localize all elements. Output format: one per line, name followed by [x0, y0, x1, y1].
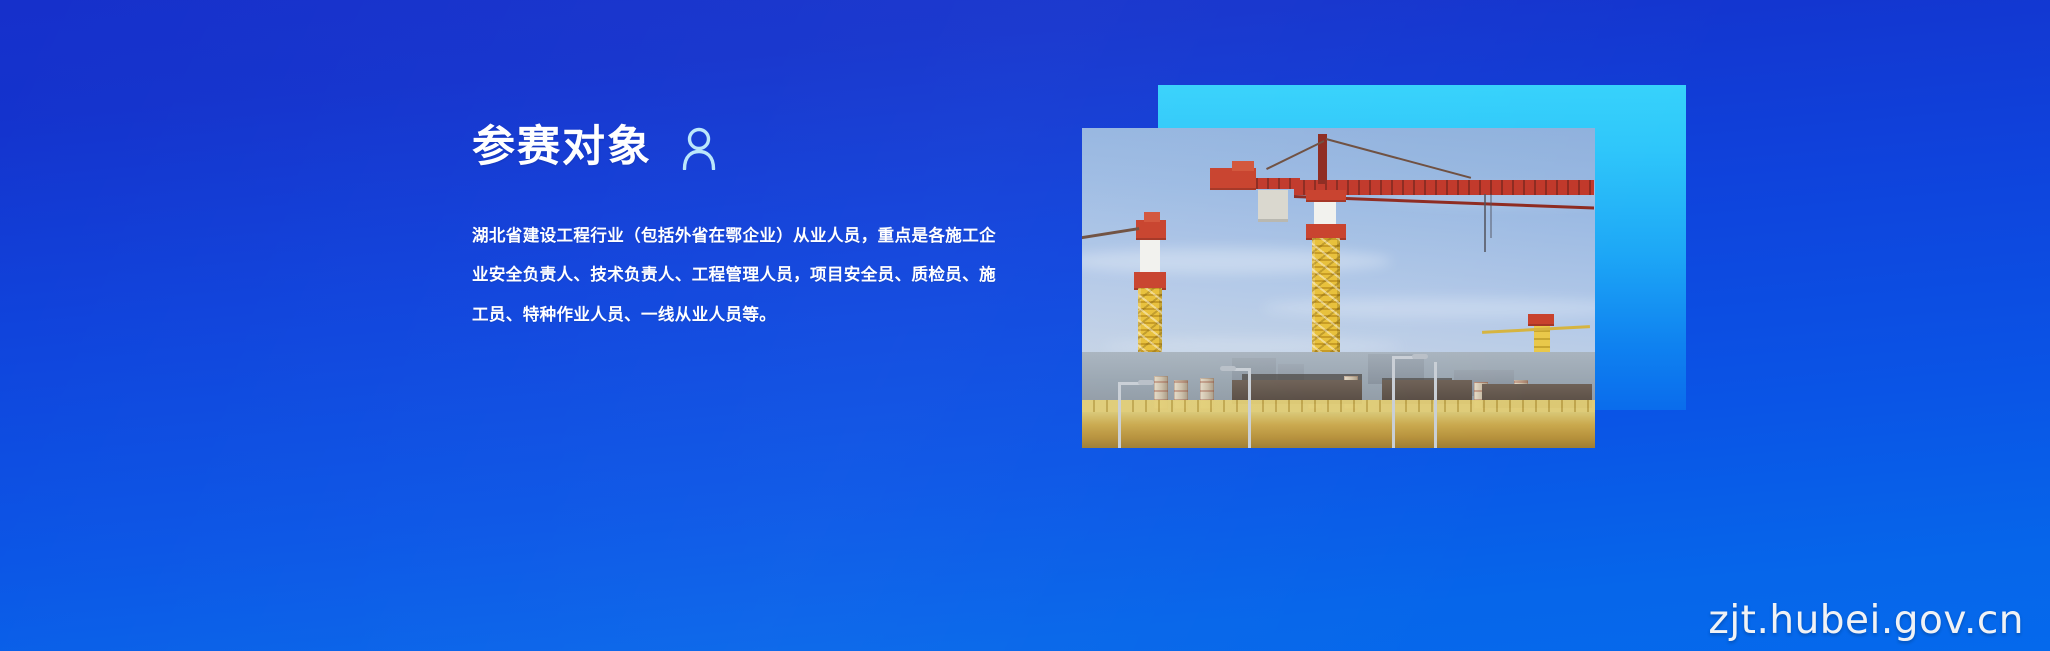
site-slab	[1082, 412, 1595, 448]
heading-row: 参赛对象	[472, 118, 1032, 178]
person-icon	[680, 126, 718, 170]
cloud	[1082, 248, 1392, 274]
photo-sky	[1082, 128, 1595, 448]
construction-photo	[1082, 128, 1595, 448]
body-paragraph: 湖北省建设工程行业（包括外省在鄂企业）从业人员，重点是各施工企业安全负责人、技术…	[472, 178, 996, 334]
slide-root: 参赛对象 湖北省建设工程行业（包括外省在鄂企业）从业人员，重点是各施工企业安全负…	[0, 0, 2050, 651]
media-composition	[1082, 85, 1702, 455]
page-title: 参赛对象	[472, 125, 652, 170]
construction-ground	[1082, 352, 1595, 448]
site-watermark: zjt.hubei.gov.cn	[1708, 598, 2024, 643]
text-column: 参赛对象 湖北省建设工程行业（包括外省在鄂企业）从业人员，重点是各施工企业安全负…	[472, 118, 1032, 334]
